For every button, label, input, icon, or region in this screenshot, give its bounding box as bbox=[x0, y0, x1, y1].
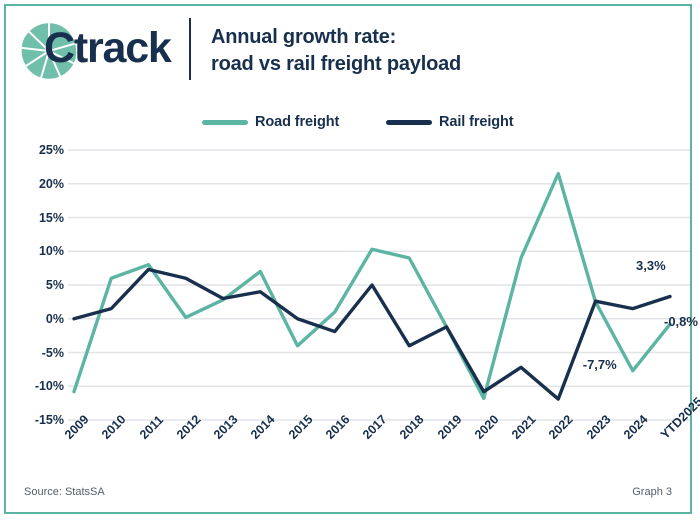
graph-number-label: Graph 3 bbox=[632, 486, 672, 498]
y-axis-tick-label: -5% bbox=[20, 346, 64, 360]
card-footer: Source: StatsSA Graph 3 bbox=[6, 486, 690, 506]
chart-card: Ctrack Annual growth rate: road vs rail … bbox=[4, 4, 692, 514]
data-label-road-freight: -0,8% bbox=[664, 314, 698, 329]
source-label: Source: StatsSA bbox=[24, 486, 105, 498]
y-axis-tick-label: -15% bbox=[20, 413, 64, 427]
y-axis-tick-label: 5% bbox=[20, 278, 64, 292]
chart-plot-area: 25%20%15%10%5%0%-5%-10%-15% 200920102011… bbox=[6, 6, 694, 516]
y-axis-tick-label: -10% bbox=[20, 379, 64, 393]
y-axis-tick-label: 25% bbox=[20, 143, 64, 157]
y-axis-tick-label: 0% bbox=[20, 312, 64, 326]
series-line-rail-freight[interactable] bbox=[74, 269, 670, 399]
y-axis-tick-label: 15% bbox=[20, 211, 64, 225]
y-axis-tick-label: 20% bbox=[20, 177, 64, 191]
y-axis-tick-label: 10% bbox=[20, 244, 64, 258]
data-label-rail-freight: 3,3% bbox=[636, 258, 666, 273]
data-label-road-freight: -7,7% bbox=[583, 357, 617, 372]
